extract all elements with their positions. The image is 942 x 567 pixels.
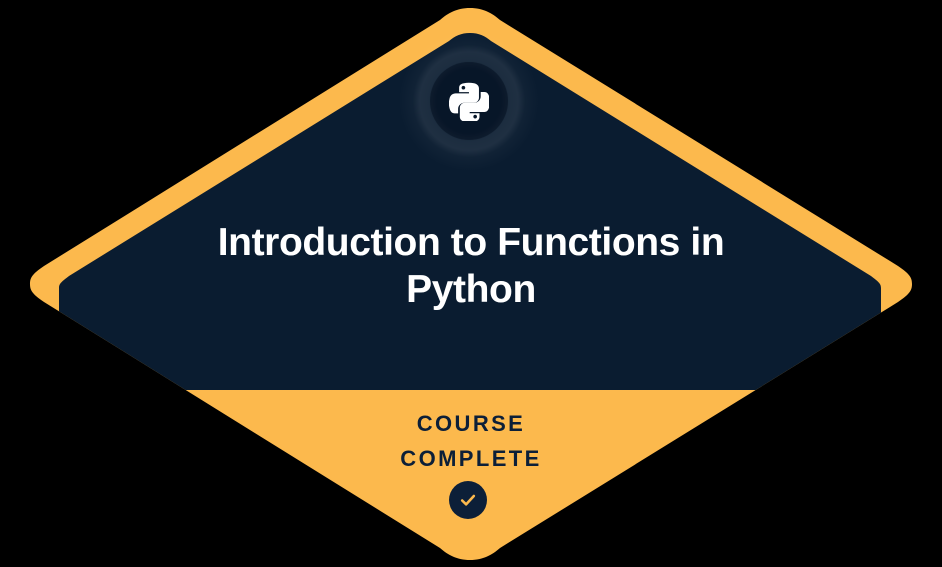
- course-completion-badge: Introduction to Functions in Python COUR…: [0, 0, 942, 567]
- python-logo-icon: [449, 81, 489, 121]
- course-status-block: COURSE COMPLETE: [221, 406, 721, 476]
- course-title: Introduction to Functions in Python: [141, 219, 801, 313]
- status-line-course: COURSE: [221, 406, 721, 441]
- completion-check-badge: [449, 481, 487, 519]
- check-mark-icon: [458, 490, 478, 510]
- python-emblem: [398, 30, 540, 172]
- status-line-complete: COMPLETE: [221, 441, 721, 476]
